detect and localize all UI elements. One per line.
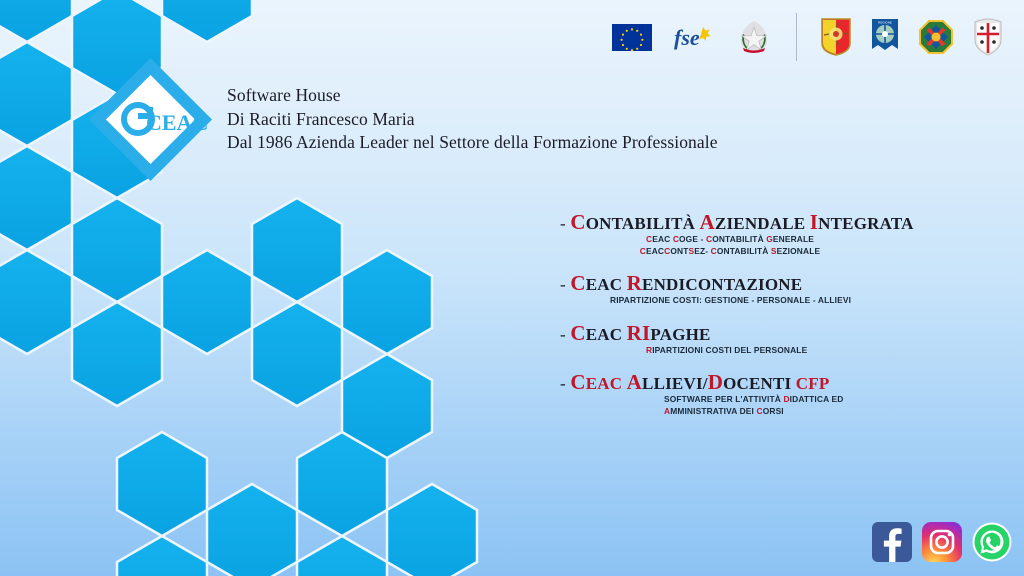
product-title-fragment: RI (627, 321, 651, 345)
ceac-diamond-logo: CEAC (88, 57, 213, 182)
product-subtitle-fragment: ONT (670, 246, 688, 256)
product-title: - CEAC RIPAGHE (560, 323, 900, 345)
product-subtitle-fragment: SOFTWARE PER L'ATTIVITÀ (664, 394, 783, 404)
product-title-fragment: - (560, 214, 566, 233)
product-subtitle-fragment: MMINISTRATIVA DEI (670, 406, 756, 416)
regione-toscana-emblem: REGIONE (871, 18, 899, 56)
brand-row: CEAC Software House Di Raciti Francesco … (88, 57, 718, 182)
product-title-fragment: CFP (796, 374, 830, 393)
product-title-fragment: A (700, 210, 715, 234)
regione-sardegna-emblem (973, 18, 1003, 56)
product-subtitle-fragment: ENERALE (773, 234, 814, 244)
product-title-fragment: C (570, 370, 585, 394)
product-subtitle: CEAC COGE - CONTABILITÀ GENERALE (560, 234, 900, 246)
european-union-flag-emblem (612, 24, 652, 51)
product-subtitle-fragment: ONTABILITÀ (717, 246, 771, 256)
product-title-fragment: I (810, 210, 818, 234)
product-title-fragment: EAC (586, 275, 627, 294)
product-item: - CEAC RENDICONTAZIONERIPARTIZIONE COSTI… (560, 273, 900, 307)
product-title-fragment: - (560, 275, 566, 294)
product-item: - CONTABILITÀ AZIENDALE INTEGRATACEAC CO… (560, 212, 900, 257)
header-line-tagline: Dal 1986 Azienda Leader nel Settore dell… (227, 131, 718, 155)
product-subtitle-fragment: RIPARTIZIONE COSTI: GESTIONE - PERSONALE… (610, 295, 851, 305)
instagram-icon[interactable] (922, 522, 962, 562)
product-title: - CEAC ALLIEVI/DOCENTI CFP (560, 372, 900, 394)
product-subtitle-fragment: IPARTIZIONI COSTI DEL PERSONALE (652, 345, 807, 355)
emblem-group-divider (796, 13, 797, 61)
header-line-owner: Di Raciti Francesco Maria (227, 108, 718, 132)
product-list: - CONTABILITÀ AZIENDALE INTEGRATACEAC CO… (560, 212, 900, 417)
product-subtitle: SOFTWARE PER L'ATTIVITÀ DIDATTICA ED (560, 394, 900, 406)
product-title-fragment: EAC (586, 374, 627, 393)
svg-text:REGIONE: REGIONE (878, 21, 892, 25)
product-subtitle: RIPARTIZIONE COSTI: GESTIONE - PERSONALE… (560, 295, 900, 307)
product-title-fragment: PAGHE (650, 325, 710, 344)
institutional-emblem-bar: fse REGIONE (612, 13, 1003, 61)
ceac-logo-text: CEAC (146, 110, 208, 135)
product-title-fragment: R (627, 271, 642, 295)
product-title-fragment: OCENTI (723, 374, 796, 393)
company-header-text: Software House Di Raciti Francesco Maria… (227, 84, 718, 155)
product-subtitle: AMMINISTRATIVA DEI CORSI (560, 406, 900, 418)
whatsapp-icon[interactable] (972, 522, 1012, 562)
product-subtitle-fragment: EZ- (694, 246, 710, 256)
product-subtitle-fragment: ORSI (763, 406, 784, 416)
product-title-fragment: LLIEVI/ (642, 374, 708, 393)
product-subtitle-fragment: EZIONALE (777, 246, 821, 256)
header-line-software-house: Software House (227, 84, 718, 108)
product-subtitle-fragment: ONTABILITÀ (712, 234, 766, 244)
product-subtitle-fragment: G (766, 234, 773, 244)
regione-emblem-4 (919, 20, 953, 54)
product-title-fragment: C (570, 321, 585, 345)
product-title-fragment: ENDICONTAZIONE (642, 275, 802, 294)
product-subtitle-fragment: OGE - (679, 234, 706, 244)
fse-logo-emblem: fse (672, 22, 716, 52)
facebook-icon[interactable] (872, 522, 912, 562)
product-title-fragment: D (708, 370, 723, 394)
product-subtitle-fragment: EAC (646, 246, 664, 256)
product-title: - CONTABILITÀ AZIENDALE INTEGRATA (560, 212, 900, 234)
product-title-fragment: ZIENDALE (715, 214, 810, 233)
product-title: - CEAC RENDICONTAZIONE (560, 273, 900, 295)
product-title-fragment: C (570, 210, 585, 234)
svg-text:fse: fse (674, 25, 700, 50)
product-subtitle-fragment: EAC (652, 234, 673, 244)
product-title-fragment: - (560, 325, 566, 344)
product-item: - CEAC RIPAGHERIPARTIZIONI COSTI DEL PER… (560, 323, 900, 357)
product-title-fragment: - (560, 374, 566, 393)
product-item: - CEAC ALLIEVI/DOCENTI CFPSOFTWARE PER L… (560, 372, 900, 417)
product-title-fragment: EAC (586, 325, 627, 344)
product-title-fragment: A (627, 370, 642, 394)
social-links (872, 522, 1012, 562)
regione-siciliana-emblem (821, 18, 851, 56)
product-title-fragment: ONTABILITÀ (586, 214, 700, 233)
product-title-fragment: C (570, 271, 585, 295)
product-subtitle-fragment: IDATTICA ED (790, 394, 844, 404)
product-title-fragment: NTEGRATA (818, 214, 913, 233)
product-subtitle: CEACCONTSEZ- CONTABILITÀ SEZIONALE (560, 246, 900, 258)
product-subtitle: RIPARTIZIONI COSTI DEL PERSONALE (560, 345, 900, 357)
italian-republic-emblem (736, 18, 772, 56)
